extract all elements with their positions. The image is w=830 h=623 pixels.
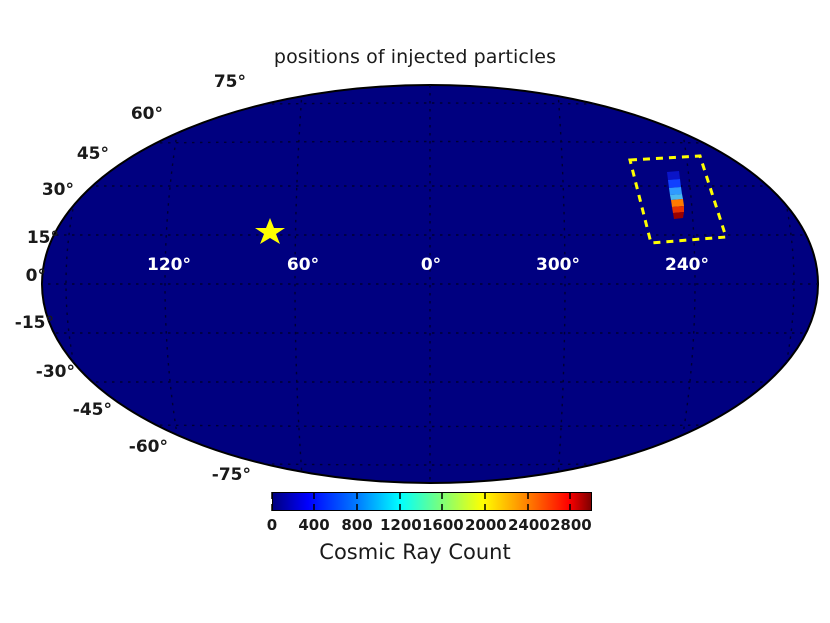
colorbar-tick-2000: 2000 [465,516,505,534]
lat-label-0: 0° [0,266,46,286]
lon-label-120: 120° [134,255,204,275]
lat-label-neg45: -45° [52,400,112,420]
colorbar-tick-1600: 1600 [422,516,462,534]
lat-label-75: 75° [186,72,246,92]
lon-label-60: 60° [268,255,338,275]
colorbar-tick-800: 800 [337,516,377,534]
colorbar-gradient [273,493,591,510]
colorbar [272,492,592,511]
lat-label-45: 45° [49,144,109,164]
lat-label-neg30: -30° [15,362,75,382]
lat-label-neg75: -75° [191,465,251,485]
lat-label-neg60: -60° [108,437,168,457]
lat-label-30: 30° [14,180,74,200]
lat-label-15: 15° [0,228,59,248]
colorbar-tick-0: 0 [252,516,292,534]
lat-label-60: 60° [103,104,163,124]
figure-canvas: positions of injected particles [0,0,830,623]
lon-label-240: 240° [652,255,722,275]
lon-label-300: 300° [523,255,593,275]
lat-label-neg15: -15° [0,313,54,333]
colorbar-tick-1200: 1200 [380,516,420,534]
colorbar-tick-2400: 2400 [508,516,548,534]
colorbar-tick-2800: 2800 [550,516,590,534]
colorbar-label: Cosmic Ray Count [0,540,830,564]
lon-label-0: 0° [396,255,466,275]
colorbar-tick-400: 400 [294,516,334,534]
